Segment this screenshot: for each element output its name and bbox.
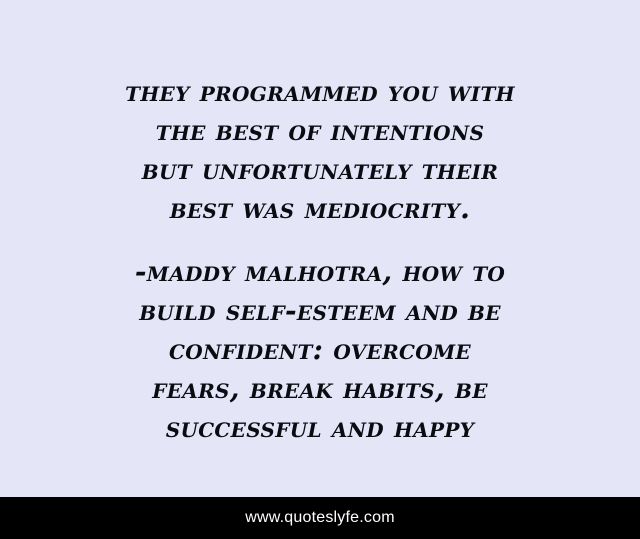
attribution-line: Build Self-Esteem and Be [40,291,600,330]
quote-line: the best of intentions [86,111,554,150]
attribution-line: Successful and Happy [40,408,600,447]
quote-text: They programmed you with the best of int… [86,72,554,228]
quote-card-body: They programmed you with the best of int… [0,0,640,497]
quote-attribution: -Maddy Malhotra, How to Build Self-Estee… [40,252,600,447]
quote-line: They programmed you with [86,72,554,111]
website-link[interactable]: www.quoteslyfe.com [245,509,394,527]
quote-line: best was mediocrity. [86,189,554,228]
quote-card: They programmed you with the best of int… [0,0,640,539]
attribution-line: -Maddy Malhotra, How to [40,252,600,291]
footer-bar: www.quoteslyfe.com [0,497,640,539]
attribution-line: Confident: Overcome [40,330,600,369]
attribution-line: Fears, Break Habits, Be [40,369,600,408]
quote-line: but unfortunately their [86,150,554,189]
